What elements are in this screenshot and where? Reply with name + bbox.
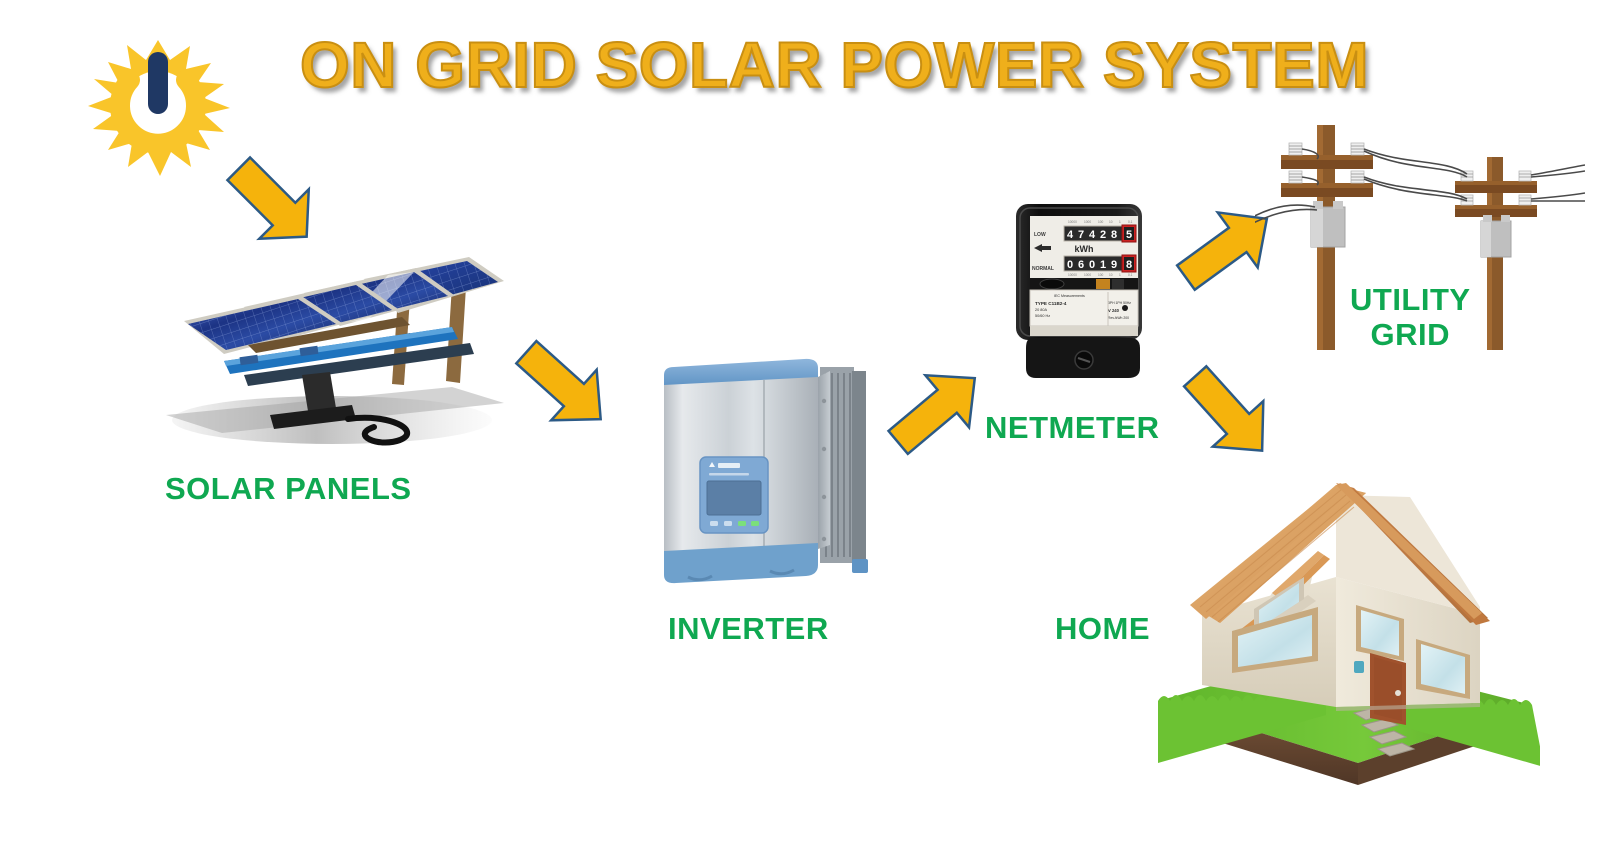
svg-text:8: 8 [1111,229,1117,241]
arrow-inverter-to-netmeter [878,352,998,467]
meter-reading-low: 474 28 5 [1064,225,1136,242]
page-title: ON GRID SOLAR POWER SYSTEM [300,28,1300,102]
svg-text:4: 4 [1089,229,1096,241]
net-energy-meter: 100001000 10010 10.1 LOW 474 28 5 kWh [1008,200,1158,385]
label-netmeter: NETMETER [985,411,1160,446]
svg-text:6: 6 [1078,259,1084,271]
svg-text:5: 5 [1126,229,1132,241]
meter-plate-rev: Rev./kWh 200 [1108,316,1129,320]
arrow-panels-to-inverter [505,332,625,442]
svg-text:0.1: 0.1 [1128,220,1133,224]
svg-text:10000: 10000 [1068,273,1077,277]
svg-text:1: 1 [1119,273,1121,277]
meter-plate-title: TYPE C11B2-4 [1035,301,1067,306]
residential-home [1140,455,1540,785]
meter-plate-line2: 20 80A [1035,308,1048,312]
meter-plate-header: IEC Measurements [1054,294,1085,298]
meter-plate-volt: V 240 [1108,308,1120,313]
svg-text:8: 8 [1126,259,1132,271]
label-solar-panels: SOLAR PANELS [165,472,412,507]
svg-text:100: 100 [1098,220,1104,224]
svg-text:9: 9 [1111,259,1117,271]
svg-text:0: 0 [1067,259,1073,271]
label-utility-grid-line2: GRID [1371,317,1451,352]
meter-unit-label: kWh [1075,244,1094,254]
label-utility-grid-line1: UTILITY [1350,282,1471,317]
svg-text:1000: 1000 [1084,273,1091,277]
meter-row-normal-label: NORMAL [1032,266,1054,272]
svg-text:2: 2 [1100,229,1106,241]
label-inverter: INVERTER [668,612,829,647]
svg-text:7: 7 [1078,229,1084,241]
svg-text:100: 100 [1098,273,1104,277]
meter-plate-line3: 50/60 Hz [1035,314,1050,318]
solar-panel-array [152,235,532,465]
svg-text:10000: 10000 [1068,220,1077,224]
svg-text:10: 10 [1109,220,1113,224]
svg-text:1: 1 [1119,220,1121,224]
diagram-canvas: ON GRID SOLAR POWER SYSTEM [0,0,1600,850]
sun-power-icon [78,22,238,182]
svg-text:10: 10 [1109,273,1113,277]
svg-text:0: 0 [1089,259,1095,271]
meter-row-low-label: LOW [1034,232,1046,238]
svg-text:0.1: 0.1 [1128,273,1133,277]
svg-text:4: 4 [1067,229,1074,241]
svg-text:1000: 1000 [1084,220,1091,224]
svg-text:1: 1 [1100,259,1106,271]
solar-inverter [652,345,882,595]
label-home: HOME [1055,612,1150,647]
label-utility-grid: UTILITY GRID [1350,283,1471,352]
svg-text:3PH 1PH 50Hz: 3PH 1PH 50Hz [1108,301,1131,305]
meter-reading-normal: 060 19 8 [1064,255,1136,272]
